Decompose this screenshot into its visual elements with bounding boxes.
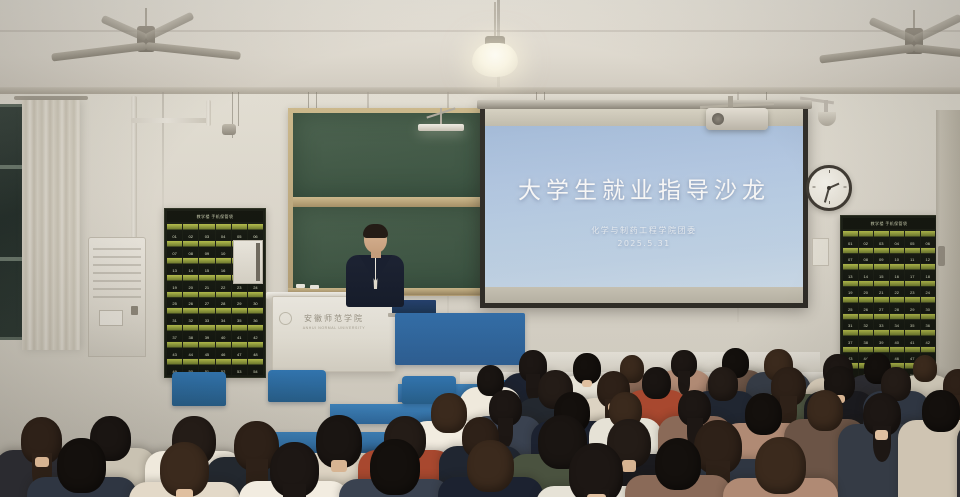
- cabinet-slot[interactable]: 21: [199, 275, 214, 291]
- audience-neck: [875, 430, 888, 440]
- cabinet-slot[interactable]: 08: [859, 248, 874, 264]
- ac-indicator-led: [131, 306, 138, 315]
- cabinet-slot[interactable]: 15: [199, 258, 214, 274]
- cabinet-header-left: 教学楼 手机保管袋: [167, 211, 263, 222]
- projector: [706, 108, 768, 130]
- cabinet-slot[interactable]: 16: [216, 258, 231, 274]
- cabinet-slot[interactable]: 30: [921, 297, 936, 313]
- cabinet-slot[interactable]: 08: [183, 241, 198, 257]
- phone-cabinet-left: 教学楼 手机保管袋 010203040506070809101112131415…: [164, 208, 266, 378]
- cabinet-slot[interactable]: 15: [874, 264, 889, 280]
- cabinet-slot[interactable]: 36: [248, 308, 263, 324]
- slide-surface: 大学生就业指导沙龙 化学与制药工程学院团委 2025.5.31: [485, 109, 803, 303]
- cabinet-slot[interactable]: 19: [843, 281, 858, 297]
- cabinet-slot[interactable]: 46: [890, 347, 905, 363]
- lecture-hall-photo: 大学生就业指导沙龙 化学与制药工程学院团委 2025.5.31 教学楼 手机保管…: [0, 0, 960, 497]
- cabinet-slot[interactable]: 46: [216, 342, 231, 358]
- cabinet-slot[interactable]: 03: [199, 224, 214, 240]
- door-handle[interactable]: [938, 246, 945, 266]
- cabinet-slot[interactable]: 11: [905, 248, 920, 264]
- cabinet-slot[interactable]: 26: [859, 297, 874, 313]
- cabinet-slot[interactable]: 33: [199, 308, 214, 324]
- wall-panel-box: [233, 240, 263, 284]
- cabinet-slot[interactable]: 33: [874, 314, 889, 330]
- cabinet-slot[interactable]: 54: [248, 359, 263, 375]
- cabinet-slot[interactable]: 12: [921, 248, 936, 264]
- cabinet-header-right: 教学楼 手机保管袋: [843, 218, 935, 229]
- cabinet-slot[interactable]: 27: [199, 292, 214, 308]
- cabinet-slot[interactable]: 43: [167, 342, 182, 358]
- cabinet-slot[interactable]: 37: [843, 330, 858, 346]
- cabinet-slot[interactable]: 38: [183, 325, 198, 341]
- audience-head: [807, 390, 844, 431]
- cabinet-slot[interactable]: 44: [183, 342, 198, 358]
- cabinet-slot[interactable]: 31: [167, 308, 182, 324]
- audience-head: [708, 367, 738, 400]
- wall-camera-icon: [222, 124, 236, 135]
- cabinet-slot[interactable]: 31: [843, 314, 858, 330]
- audience-neck: [35, 457, 49, 468]
- cabinet-slot[interactable]: 34: [216, 308, 231, 324]
- cabinet-slot[interactable]: 19: [167, 275, 182, 291]
- cabinet-slot[interactable]: 23: [905, 281, 920, 297]
- cabinet-slot[interactable]: 22: [890, 281, 905, 297]
- audience-neck: [176, 489, 193, 497]
- cabinet-slot[interactable]: 02: [859, 231, 874, 247]
- cabinet-slot[interactable]: 01: [843, 231, 858, 247]
- cabinet-slot[interactable]: 10: [216, 241, 231, 257]
- presenter: [344, 226, 406, 306]
- blue-display-panel: [395, 313, 525, 365]
- ceiling-rail: [0, 87, 960, 94]
- podium-institution-cn: 安徽师范学院: [283, 313, 385, 324]
- cabinet-slot[interactable]: 27: [874, 297, 889, 313]
- cabinet-slot[interactable]: 07: [843, 248, 858, 264]
- cabinet-slot[interactable]: 18: [921, 264, 936, 280]
- cabinet-slot[interactable]: 40: [216, 325, 231, 341]
- audience-head: [745, 393, 783, 435]
- cabinet-slot[interactable]: 45: [199, 342, 214, 358]
- cabinet-slot[interactable]: 03: [874, 231, 889, 247]
- cabinet-slot[interactable]: 26: [183, 292, 198, 308]
- cabinet-slot[interactable]: 04: [890, 231, 905, 247]
- cabinet-slot[interactable]: 10: [890, 248, 905, 264]
- chair-back: [172, 372, 226, 406]
- audience-head: [913, 355, 937, 382]
- cabinet-slot[interactable]: 14: [183, 258, 198, 274]
- wall-switch-plate: [812, 238, 829, 266]
- wall-pipe-horizontal: [131, 118, 211, 123]
- cabinet-slot[interactable]: 05: [232, 224, 247, 240]
- cabinet-slot[interactable]: 39: [874, 330, 889, 346]
- cabinet-slot[interactable]: 28: [216, 292, 231, 308]
- cabinet-slot[interactable]: 35: [232, 308, 247, 324]
- projector-lens-icon: [712, 113, 724, 125]
- podium-institution-en: ANHUI NORMAL UNIVERSITY: [283, 326, 385, 330]
- cabinet-slot[interactable]: 06: [248, 224, 263, 240]
- podium: 安徽师范学院 ANHUI NORMAL UNIVERSITY: [272, 296, 396, 372]
- audience-neck: [331, 460, 347, 472]
- cabinet-slot[interactable]: 16: [890, 264, 905, 280]
- cabinet-slot[interactable]: 06: [921, 231, 936, 247]
- air-conditioner: [88, 237, 146, 357]
- cabinet-slot[interactable]: 09: [199, 241, 214, 257]
- cabinet-slot[interactable]: 32: [859, 314, 874, 330]
- cabinet-slot[interactable]: 20: [859, 281, 874, 297]
- cabinet-slot[interactable]: 20: [183, 275, 198, 291]
- blackboard-lamp: [418, 124, 464, 131]
- cabinet-slot[interactable]: 14: [859, 264, 874, 280]
- slide-title: 大学生就业指导沙龙: [485, 171, 803, 205]
- cabinet-slot[interactable]: 34: [890, 314, 905, 330]
- cabinet-slot[interactable]: 17: [905, 264, 920, 280]
- audience-neck: [582, 380, 591, 387]
- window-curtain: [22, 100, 80, 350]
- cabinet-slot[interactable]: 47: [232, 342, 247, 358]
- cabinet-slot[interactable]: 13: [843, 264, 858, 280]
- cabinet-slot[interactable]: 01: [167, 224, 182, 240]
- cabinet-slot[interactable]: 37: [167, 325, 182, 341]
- slide-date: 2025.5.31: [485, 239, 803, 248]
- cabinet-slot[interactable]: 42: [248, 325, 263, 341]
- cabinet-slot[interactable]: 25: [843, 297, 858, 313]
- cabinet-slot[interactable]: 02: [183, 224, 198, 240]
- projection-screen: 大学生就业指导沙龙 化学与制药工程学院团委 2025.5.31: [480, 104, 808, 308]
- cabinet-slot[interactable]: 28: [890, 297, 905, 313]
- cabinet-slot[interactable]: 22: [216, 275, 231, 291]
- wall-pipe-2: [206, 100, 211, 126]
- audience-head: [922, 390, 960, 432]
- cabinet-slot[interactable]: 09: [874, 248, 889, 264]
- cabinet-slot[interactable]: 04: [216, 224, 231, 240]
- cabinet-slot[interactable]: 40: [890, 330, 905, 346]
- cabinet-slot[interactable]: 29: [232, 292, 247, 308]
- chair-back: [268, 370, 326, 402]
- cabinet-slot[interactable]: 07: [167, 241, 182, 257]
- wall-clock: [806, 165, 852, 211]
- cabinet-slot[interactable]: 29: [905, 297, 920, 313]
- audience-head: [467, 440, 514, 492]
- cabinet-slot[interactable]: 39: [199, 325, 214, 341]
- audience-head: [655, 438, 702, 490]
- cabinet-slot[interactable]: 41: [232, 325, 247, 341]
- audience-head: [755, 437, 806, 494]
- audience-neck: [622, 460, 637, 471]
- cabinet-slot[interactable]: 38: [859, 330, 874, 346]
- cabinet-slot[interactable]: 25: [167, 292, 182, 308]
- cabinet-slot[interactable]: 32: [183, 308, 198, 324]
- audience-torso: [898, 420, 960, 497]
- cabinet-slot[interactable]: 36: [921, 314, 936, 330]
- cabinet-slot[interactable]: 41: [905, 330, 920, 346]
- audience-head: [370, 439, 420, 495]
- audience-head: [431, 393, 467, 433]
- cabinet-slot[interactable]: 30: [248, 292, 263, 308]
- audience-head: [642, 367, 671, 399]
- cabinet-slot[interactable]: 48: [248, 342, 263, 358]
- cabinet-slot[interactable]: 42: [921, 330, 936, 346]
- cabinet-slot[interactable]: 13: [167, 258, 182, 274]
- cabinet-slot[interactable]: 53: [232, 359, 247, 375]
- audience-head: [57, 438, 106, 493]
- slide-subtitle: 化学与制药工程学院团委: [485, 225, 803, 236]
- audience-hair: [283, 484, 307, 497]
- pendant-light: [472, 36, 518, 86]
- cabinet-slot[interactable]: 24: [921, 281, 936, 297]
- cabinet-slot[interactable]: 35: [905, 314, 920, 330]
- cabinet-slot[interactable]: 05: [905, 231, 920, 247]
- cabinet-slot[interactable]: 21: [874, 281, 889, 297]
